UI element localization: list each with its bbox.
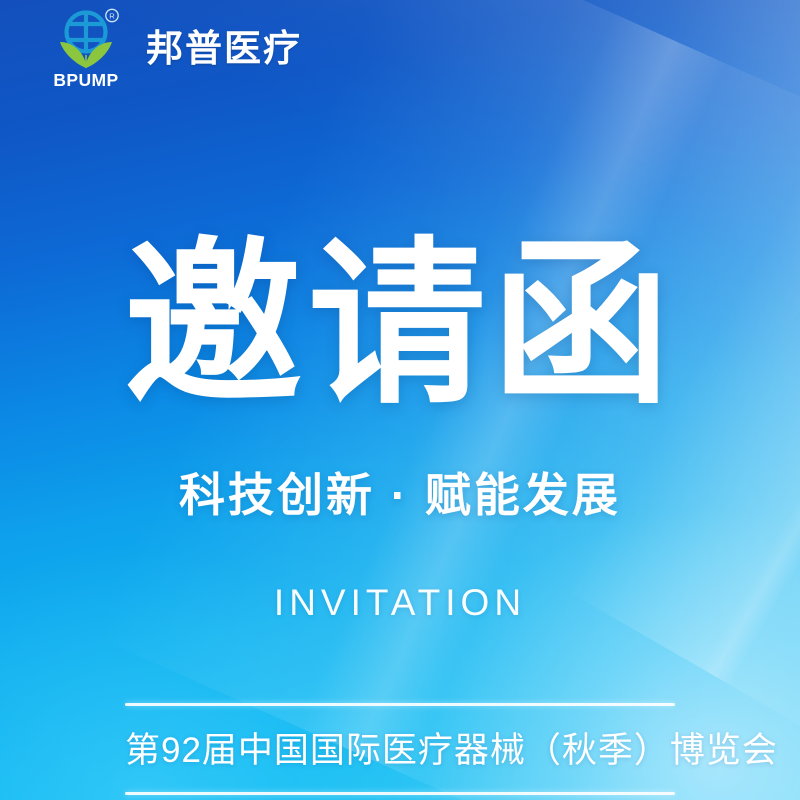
brand-header: R BPUMP 邦普医疗: [46, 6, 302, 90]
company-name: 邦普医疗: [146, 30, 302, 67]
english-title: INVITATION: [0, 584, 800, 621]
bpump-emblem-icon: R BPUMP: [46, 6, 130, 90]
footer-block: 第92届中国国际医疗器械（秋季）博览会: [125, 703, 675, 795]
hero-block: 邀请函 科技创新 · 赋能发展 INVITATION: [0, 236, 800, 621]
divider-bottom: [125, 792, 675, 795]
divider-top: [125, 703, 675, 706]
page-title: 邀请函: [0, 236, 800, 414]
event-name: 第92届中国国际医疗器械（秋季）博览会: [125, 733, 675, 768]
svg-text:R: R: [109, 11, 115, 20]
slogan: 科技创新 · 赋能发展: [0, 472, 800, 518]
bpump-wordmark: BPUMP: [53, 70, 118, 90]
invitation-poster: R BPUMP 邦普医疗 邀请函 科技创新 · 赋能发展 INVITATION …: [0, 0, 800, 800]
